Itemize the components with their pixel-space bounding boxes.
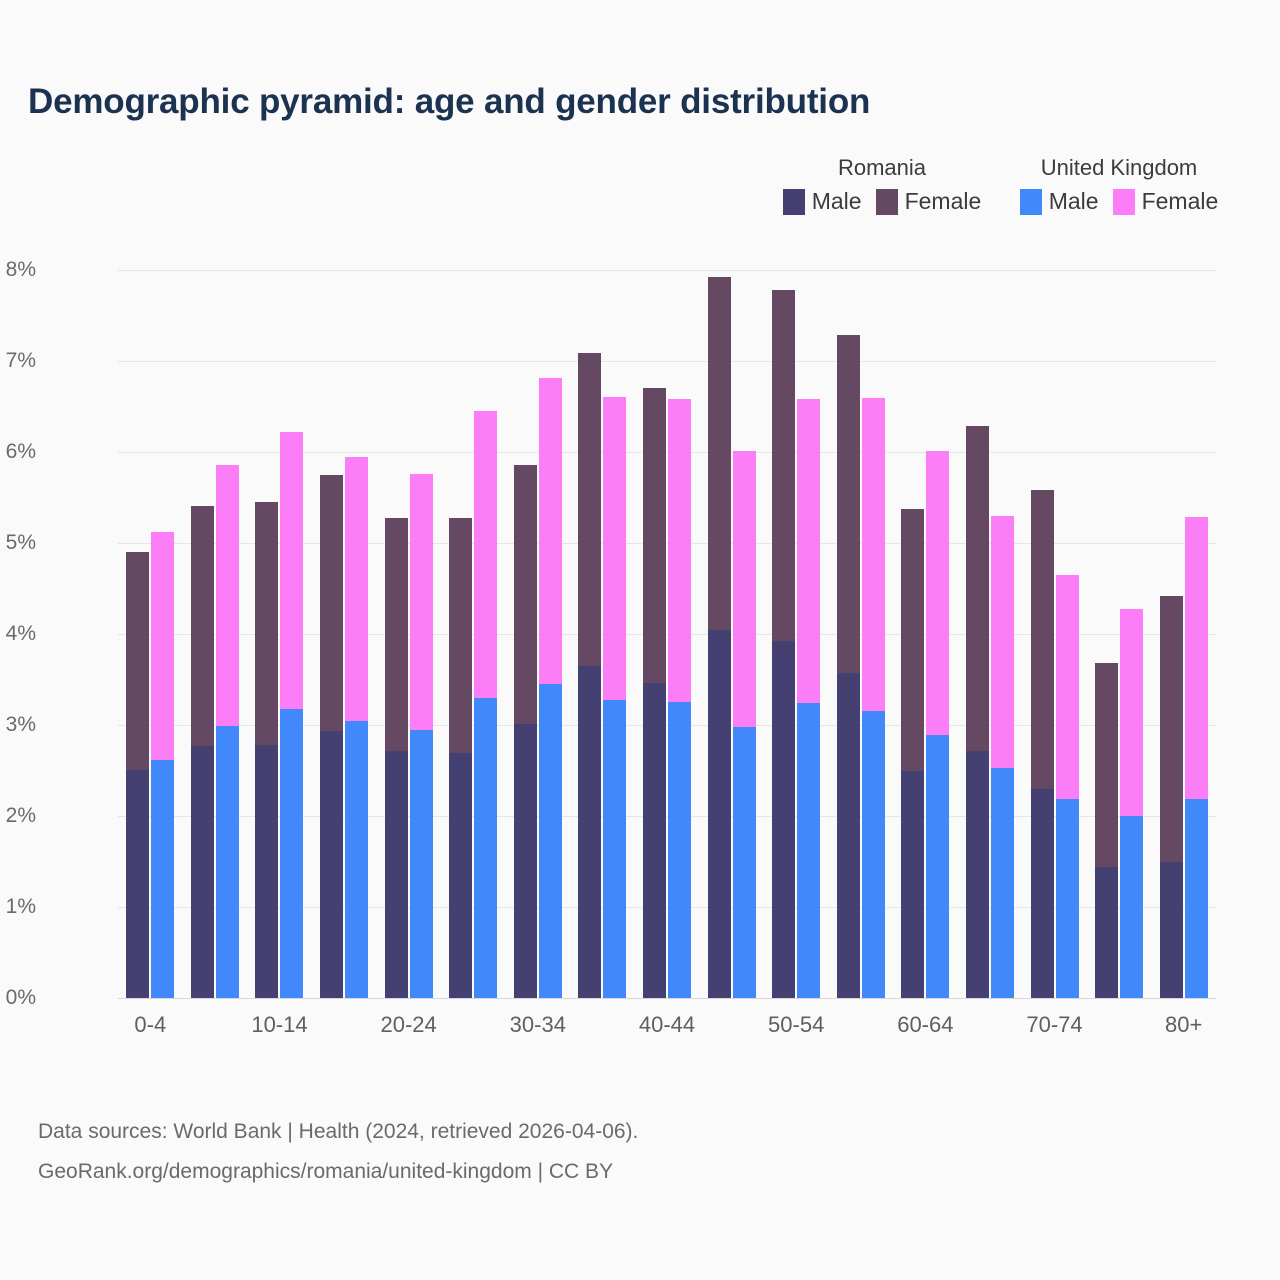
bar-group [449, 270, 497, 998]
y-axis-tick: 7% [0, 349, 36, 373]
bar-romania-25-29[interactable] [449, 518, 472, 998]
bar-segment-male[interactable] [514, 724, 537, 998]
bar-segment-male[interactable] [539, 684, 562, 998]
bar-segment-female[interactable] [1056, 575, 1079, 799]
bar-united-kingdom-80+[interactable] [1185, 517, 1208, 998]
x-axis-tick: 50-54 [768, 1012, 824, 1038]
bar-group [837, 270, 885, 998]
legend-label-uk-female: Female [1142, 188, 1219, 215]
legend-country-united-kingdom: United Kingdom [996, 155, 1242, 181]
bar-segment-male[interactable] [901, 771, 924, 999]
bar-group [514, 270, 562, 998]
bar-romania-60-64[interactable] [901, 509, 924, 998]
legend-country-romania: Romania [768, 155, 996, 181]
bar-united-kingdom-60-64[interactable] [926, 451, 949, 998]
bar-segment-male[interactable] [1185, 799, 1208, 998]
plot-area: 0%1%2%3%4%5%6%7%8%0-410-1420-2430-3440-4… [118, 270, 1216, 998]
bar-united-kingdom-65-69[interactable] [991, 516, 1014, 998]
footer-data-sources: Data sources: World Bank | Health (2024,… [38, 1112, 638, 1152]
bar-segment-female[interactable] [837, 335, 860, 674]
legend-label-uk-male: Male [1049, 188, 1099, 215]
bar-segment-male[interactable] [1160, 862, 1183, 999]
bar-group [385, 270, 433, 998]
bar-romania-0-4[interactable] [126, 552, 149, 998]
bar-group [1160, 270, 1208, 998]
y-axis-tick: 5% [0, 531, 36, 555]
bar-segment-female[interactable] [668, 399, 691, 702]
bar-segment-male[interactable] [643, 683, 666, 998]
bar-romania-5-9[interactable] [191, 506, 214, 998]
bar-segment-female[interactable] [862, 398, 885, 711]
bar-segment-female[interactable] [191, 506, 214, 746]
bar-segment-female[interactable] [151, 532, 174, 760]
bar-segment-female[interactable] [385, 518, 408, 752]
y-axis-tick: 3% [0, 713, 36, 737]
bar-united-kingdom-0-4[interactable] [151, 532, 174, 998]
swatch-icon-uk-female [1113, 189, 1135, 215]
swatch-icon-romania-male [783, 189, 805, 215]
bar-united-kingdom-70-74[interactable] [1056, 575, 1079, 998]
x-axis-tick: 20-24 [381, 1012, 437, 1038]
swatch-icon-romania-female [876, 189, 898, 215]
bar-united-kingdom-10-14[interactable] [280, 432, 303, 998]
bar-united-kingdom-30-34[interactable] [539, 378, 562, 998]
bar-segment-male[interactable] [280, 709, 303, 998]
bar-segment-male[interactable] [191, 746, 214, 998]
bar-group [191, 270, 239, 998]
bar-segment-female[interactable] [733, 451, 756, 727]
bar-romania-30-34[interactable] [514, 465, 537, 998]
x-axis-tick: 10-14 [251, 1012, 307, 1038]
y-axis-tick: 0% [0, 986, 36, 1010]
bar-segment-male[interactable] [320, 731, 343, 998]
bar-segment-female[interactable] [255, 502, 278, 745]
bar-segment-female[interactable] [320, 475, 343, 732]
bar-romania-20-24[interactable] [385, 518, 408, 998]
bar-segment-female[interactable] [449, 518, 472, 753]
bar-segment-male[interactable] [410, 730, 433, 998]
bar-segment-male[interactable] [385, 751, 408, 998]
chart-footer: Data sources: World Bank | Health (2024,… [38, 1112, 638, 1192]
bar-group [578, 270, 626, 998]
y-axis-tick: 1% [0, 895, 36, 919]
bar-segment-male[interactable] [151, 760, 174, 998]
bar-segment-male[interactable] [733, 727, 756, 998]
bar-romania-50-54[interactable] [772, 290, 795, 998]
bar-segment-male[interactable] [966, 751, 989, 998]
bar-segment-male[interactable] [1120, 816, 1143, 998]
bar-group [1031, 270, 1079, 998]
bar-romania-65-69[interactable] [966, 426, 989, 998]
bar-segment-male[interactable] [449, 753, 472, 998]
legend-group-united-kingdom: Male Female [996, 188, 1242, 215]
chart-legend: Romania United Kingdom Male Female Male [768, 155, 1242, 215]
legend-item-romania-male[interactable]: Male [783, 188, 862, 215]
bar-segment-female[interactable] [578, 353, 601, 666]
bar-segment-female[interactable] [991, 516, 1014, 768]
bar-segment-female[interactable] [216, 465, 239, 726]
bar-segment-female[interactable] [539, 378, 562, 684]
bar-segment-female[interactable] [410, 474, 433, 730]
bar-group [255, 270, 303, 998]
bar-romania-15-19[interactable] [320, 475, 343, 998]
bar-united-kingdom-5-9[interactable] [216, 465, 239, 998]
bar-segment-male[interactable] [797, 703, 820, 998]
legend-key-row: Male Female Male Female [768, 188, 1242, 215]
bar-segment-female[interactable] [1160, 596, 1183, 862]
bar-segment-female[interactable] [926, 451, 949, 735]
bar-group [966, 270, 1014, 998]
bar-segment-male[interactable] [603, 700, 626, 998]
bar-segment-female[interactable] [126, 552, 149, 769]
gridline-0% [118, 998, 1216, 999]
legend-item-uk-female[interactable]: Female [1113, 188, 1219, 215]
legend-group-romania: Male Female [768, 188, 996, 215]
bar-segment-female[interactable] [474, 411, 497, 698]
bar-segment-female[interactable] [280, 432, 303, 709]
bar-group [1095, 270, 1143, 998]
bar-romania-40-44[interactable] [643, 388, 666, 998]
legend-label-romania-male: Male [812, 188, 862, 215]
bar-group [708, 270, 756, 998]
bar-segment-female[interactable] [643, 388, 666, 683]
bar-segment-male[interactable] [255, 745, 278, 998]
bar-segment-female[interactable] [772, 290, 795, 641]
bar-segment-female[interactable] [514, 465, 537, 724]
bar-segment-male[interactable] [126, 770, 149, 998]
bar-group [320, 270, 368, 998]
legend-item-uk-male[interactable]: Male [1020, 188, 1099, 215]
bar-group [643, 270, 691, 998]
bar-romania-80+[interactable] [1160, 596, 1183, 998]
bar-segment-male[interactable] [216, 726, 239, 998]
bar-segment-male[interactable] [578, 666, 601, 998]
chart-page: Demographic pyramid: age and gender dist… [0, 0, 1280, 1280]
bar-segment-male[interactable] [1031, 789, 1054, 998]
bar-romania-45-49[interactable] [708, 277, 731, 998]
x-axis-tick: 70-74 [1026, 1012, 1082, 1038]
bar-segment-male[interactable] [862, 711, 885, 998]
x-axis-tick: 60-64 [897, 1012, 953, 1038]
x-axis-tick: 40-44 [639, 1012, 695, 1038]
bar-segment-female[interactable] [345, 457, 368, 721]
bar-segment-male[interactable] [345, 721, 368, 998]
bar-segment-female[interactable] [708, 277, 731, 630]
bar-segment-female[interactable] [1031, 490, 1054, 788]
x-axis-tick: 80+ [1165, 1012, 1202, 1038]
bar-segment-male[interactable] [926, 735, 949, 998]
bar-segment-male[interactable] [474, 698, 497, 998]
bar-united-kingdom-15-19[interactable] [345, 457, 368, 998]
bar-segment-female[interactable] [797, 399, 820, 703]
legend-country-row: Romania United Kingdom [768, 155, 1242, 181]
bar-romania-35-39[interactable] [578, 353, 601, 998]
bar-united-kingdom-20-24[interactable] [410, 474, 433, 998]
bar-united-kingdom-50-54[interactable] [797, 399, 820, 998]
page-title: Demographic pyramid: age and gender dist… [28, 82, 870, 122]
bar-segment-male[interactable] [837, 673, 860, 998]
bar-segment-male[interactable] [1095, 867, 1118, 998]
legend-label-romania-female: Female [905, 188, 982, 215]
x-axis-tick: 30-34 [510, 1012, 566, 1038]
legend-item-romania-female[interactable]: Female [876, 188, 982, 215]
bar-segment-female[interactable] [901, 509, 924, 770]
bar-segment-male[interactable] [772, 641, 795, 998]
y-axis-tick: 6% [0, 440, 36, 464]
bar-united-kingdom-40-44[interactable] [668, 399, 691, 998]
x-axis-tick: 0-4 [134, 1012, 166, 1038]
bar-group [126, 270, 174, 998]
bar-segment-female[interactable] [1120, 609, 1143, 816]
bar-united-kingdom-45-49[interactable] [733, 451, 756, 998]
bar-group [772, 270, 820, 998]
bar-romania-55-59[interactable] [837, 335, 860, 998]
bar-romania-70-74[interactable] [1031, 490, 1054, 998]
bar-romania-10-14[interactable] [255, 502, 278, 998]
bar-united-kingdom-75-79[interactable] [1120, 609, 1143, 998]
bar-segment-female[interactable] [603, 397, 626, 700]
y-axis-tick: 2% [0, 804, 36, 828]
footer-attribution: GeoRank.org/demographics/romania/united-… [38, 1152, 638, 1192]
bar-group [901, 270, 949, 998]
bar-united-kingdom-55-59[interactable] [862, 398, 885, 998]
bar-segment-female[interactable] [1095, 663, 1118, 867]
bar-romania-75-79[interactable] [1095, 663, 1118, 998]
bar-segment-female[interactable] [966, 426, 989, 752]
bar-united-kingdom-25-29[interactable] [474, 411, 497, 998]
bar-segment-male[interactable] [708, 630, 731, 998]
bar-segment-male[interactable] [991, 768, 1014, 998]
bar-segment-male[interactable] [668, 702, 691, 998]
swatch-icon-uk-male [1020, 189, 1042, 215]
bar-segment-female[interactable] [1185, 517, 1208, 799]
bar-segment-male[interactable] [1056, 799, 1079, 998]
y-axis-tick: 4% [0, 622, 36, 646]
bar-united-kingdom-35-39[interactable] [603, 397, 626, 998]
y-axis-tick: 8% [0, 258, 36, 282]
